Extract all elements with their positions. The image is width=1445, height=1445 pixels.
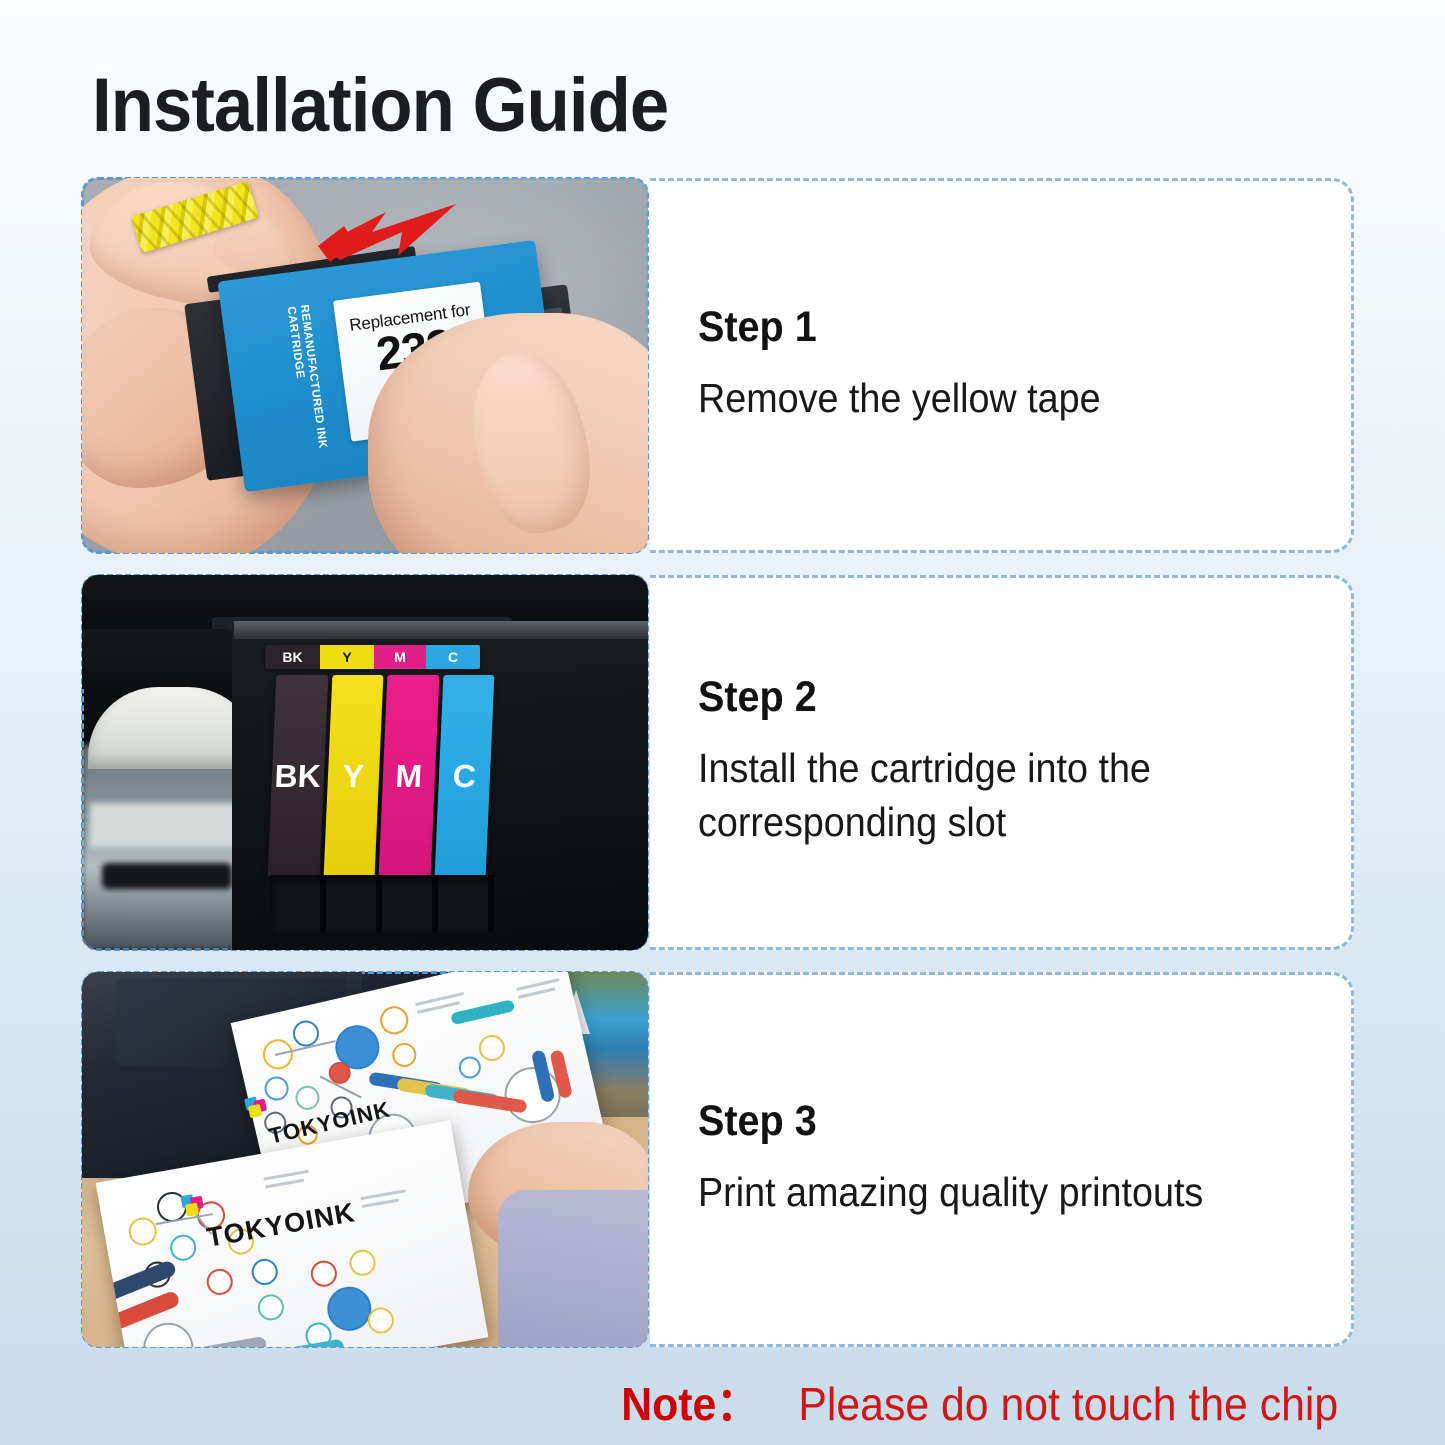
sweater-sleeve xyxy=(498,1190,648,1347)
cartridge-base-rail xyxy=(270,875,494,933)
step-row-2: BK Y M C BK Y M C Step 2 Install the car… xyxy=(82,575,1354,950)
cartridge-m: M xyxy=(379,675,439,877)
slot-label-c: C xyxy=(426,645,480,669)
cartridge-c: C xyxy=(434,675,494,877)
slot-label-m: M xyxy=(374,645,426,669)
step-2-description: Install the cartridge into the correspon… xyxy=(698,741,1271,849)
page-title: Installation Guide xyxy=(92,68,668,144)
red-arrow-icon xyxy=(310,202,460,280)
cartridge-y: Y xyxy=(323,675,383,877)
step-2-photo: BK Y M C BK Y M C xyxy=(82,575,648,950)
step-row-1: REMANUFACTURED INK CARTRIDGE Replacement… xyxy=(82,178,1354,553)
step-1-description: Remove the yellow tape xyxy=(698,371,1271,425)
step-1-photo: REMANUFACTURED INK CARTRIDGE Replacement… xyxy=(82,178,648,553)
slot-label-y: Y xyxy=(320,645,374,669)
cartridge-vertical-text: REMANUFACTURED INK CARTRIDGE xyxy=(283,304,332,484)
installed-cartridges: BK Y M C xyxy=(268,675,495,877)
step-2-text-card: Step 2 Install the cartridge into the co… xyxy=(650,575,1354,950)
step-row-3: TOKYOINK TOKYOINK Step 3 Print amazing q xyxy=(82,972,1354,1347)
step-1-text-card: Step 1 Remove the yellow tape xyxy=(650,178,1354,553)
note-label: Note： xyxy=(621,1368,759,1434)
footer-note: Note：Please do not touch the chip xyxy=(0,1368,1359,1434)
step-3-description: Print amazing quality printouts xyxy=(698,1165,1271,1219)
step-3-photo: TOKYOINK TOKYOINK xyxy=(82,972,648,1347)
installation-guide-page: Installation Guide REMANUFACTURED INK CA… xyxy=(0,0,1445,1445)
cartridge-tray-lip xyxy=(234,621,648,639)
cartridge-bk: BK xyxy=(268,675,328,877)
printer-left-block xyxy=(82,629,236,689)
step-2-heading: Step 2 xyxy=(698,676,1271,719)
step-3-text-card: Step 3 Print amazing quality printouts xyxy=(650,972,1354,1347)
note-text: Please do not touch the chip xyxy=(799,1377,1339,1431)
step-3-heading: Step 3 xyxy=(698,1100,1271,1143)
step-1-heading: Step 1 xyxy=(698,306,1271,349)
step-1-photo-inner: REMANUFACTURED INK CARTRIDGE Replacement… xyxy=(82,178,648,553)
slot-label-bk: BK xyxy=(265,645,320,669)
step-3-photo-inner: TOKYOINK TOKYOINK xyxy=(82,972,648,1347)
slot-label-strip: BK Y M C xyxy=(265,645,480,669)
step-2-photo-inner: BK Y M C BK Y M C xyxy=(82,575,648,950)
